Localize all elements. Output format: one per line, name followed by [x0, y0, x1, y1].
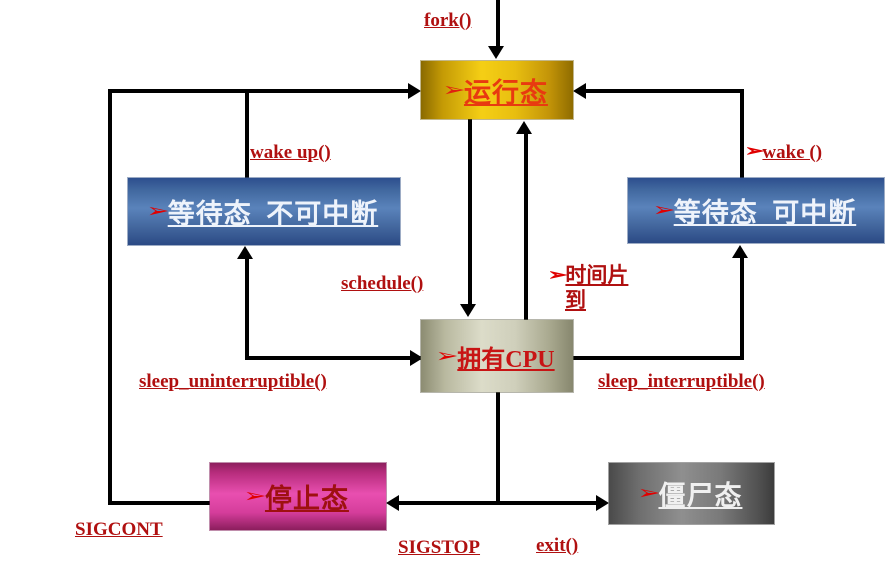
edge-schedule-vertical [468, 119, 472, 304]
edge-label-fork-text: fork() [424, 10, 471, 32]
edge-sleepinterruptible-horizontal [570, 356, 744, 360]
state-label-wait-interruptible: 等待态_可中断 [674, 191, 857, 230]
edge-sigcont-bottom [108, 501, 218, 505]
edge-label-sigstop-text: SIGSTOP [398, 537, 480, 559]
state-box-running[interactable]: ➢ 运行态 [421, 61, 573, 119]
edge-label-sigcont-text: SIGCONT [75, 519, 163, 541]
bullet-arrow-icon: ➢ [548, 267, 568, 285]
edge-sigcont-arrowhead [408, 83, 421, 99]
edge-label-sigstop: SIGSTOP [398, 537, 480, 559]
edge-label-wake-up: wake up() [250, 142, 331, 164]
edge-sleepuninterruptible-arrowhead [237, 246, 253, 259]
edge-sleepuninterruptible-horizontal [245, 356, 425, 360]
state-label-wait-uninterruptible: 等待态_不可中断 [168, 192, 379, 231]
edge-label-timeslice-line2: 到 [565, 288, 586, 312]
bullet-arrow-icon: ➢ [442, 81, 465, 100]
edge-label-wake: ➢wake () [748, 142, 822, 164]
edge-fork-line [496, 0, 500, 46]
edge-sleepinterruptible-vertical [740, 258, 744, 358]
edge-wakeup-vertical [245, 89, 249, 180]
edge-schedule-arrowhead [460, 304, 476, 317]
edge-exit-horizontal [496, 501, 596, 505]
edge-sigstop-arrowhead [386, 495, 399, 511]
edge-sleepuninterruptible-vertical [245, 258, 249, 358]
edge-timeslice-arrowhead [516, 121, 532, 134]
state-label-has-cpu: 拥有CPU [457, 339, 554, 374]
edge-cpu-bottom-vertical [496, 392, 500, 503]
edge-label-sleep-uninterruptible: sleep_uninterruptible() [139, 371, 327, 393]
edge-label-sleep-interruptible-text: sleep_interruptible() [598, 371, 765, 393]
state-label-stopped: 停止态 [265, 477, 349, 516]
bullet-arrow-icon: ➢ [637, 484, 660, 503]
edge-fork-arrowhead [488, 46, 504, 59]
bullet-arrow-icon: ➢ [745, 143, 765, 161]
state-box-stopped[interactable]: ➢ 停止态 [210, 463, 386, 530]
edge-label-wake-up-text: wake up() [250, 142, 331, 164]
edge-sleepinterruptible-arrowhead [732, 245, 748, 258]
edge-sigcont-top [108, 89, 413, 93]
state-label-running: 运行态 [464, 71, 548, 110]
bullet-arrow-icon: ➢ [146, 202, 169, 221]
edge-timeslice-vertical [524, 134, 528, 320]
edge-sigcont-vertical [108, 89, 112, 505]
edge-wake-arrowhead [573, 83, 586, 99]
edge-label-exit-text: exit() [536, 535, 578, 557]
bullet-arrow-icon: ➢ [652, 201, 675, 220]
edge-label-sigcont: SIGCONT [75, 519, 163, 541]
state-box-wait-interruptible[interactable]: ➢ 等待态_可中断 [628, 178, 884, 243]
edge-sigstop-horizontal [399, 501, 498, 505]
bullet-arrow-icon: ➢ [436, 347, 459, 366]
edge-label-timeslice: ➢时间片 到 [551, 263, 628, 313]
edge-wake-vertical [740, 89, 744, 180]
edge-label-sleep-uninterruptible-text: sleep_uninterruptible() [139, 371, 327, 393]
edge-label-sleep-interruptible: sleep_interruptible() [598, 371, 765, 393]
state-box-wait-uninterruptible[interactable]: ➢ 等待态_不可中断 [128, 178, 400, 245]
edge-label-schedule: schedule() [341, 273, 423, 295]
edge-label-fork: fork() [424, 10, 471, 32]
process-state-diagram: ➢ 运行态 ➢ 等待态_不可中断 ➢ 等待态_可中断 ➢ 拥有CPU ➢ 停止态… [0, 0, 893, 580]
state-box-zombie[interactable]: ➢ 僵尸态 [609, 463, 774, 524]
edge-label-exit: exit() [536, 535, 578, 557]
state-box-has-cpu[interactable]: ➢ 拥有CPU [421, 320, 573, 392]
edge-exit-arrowhead [596, 495, 609, 511]
edge-label-wake-text: wake () [762, 142, 822, 164]
bullet-arrow-icon: ➢ [243, 487, 266, 506]
state-label-zombie: 僵尸态 [658, 474, 742, 513]
edge-wake-horizontal [586, 89, 744, 93]
edge-label-timeslice-line1: 时间片 [565, 263, 628, 287]
edge-label-schedule-text: schedule() [341, 273, 423, 295]
